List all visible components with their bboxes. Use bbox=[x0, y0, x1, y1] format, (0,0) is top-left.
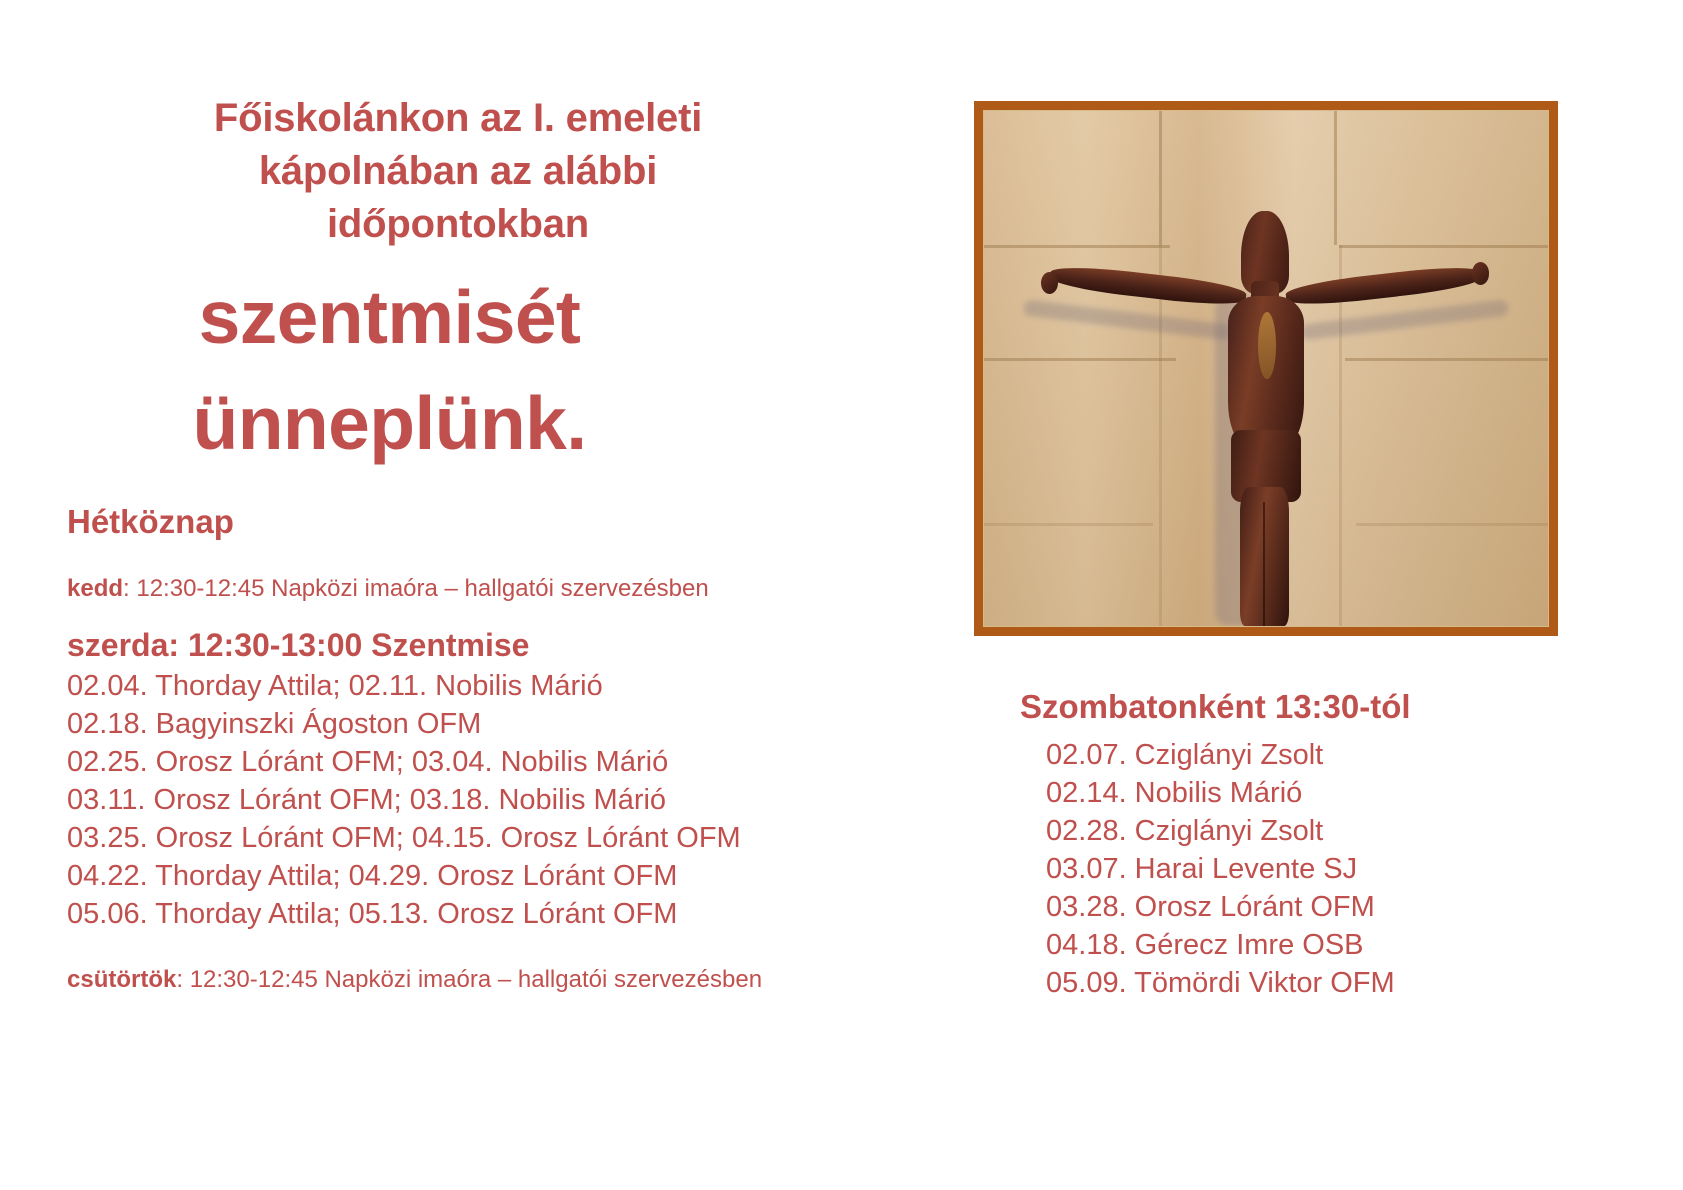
headline-line-1: szentmisét bbox=[62, 266, 872, 370]
thursday-row: csütörtök: 12:30-12:45 Napközi imaóra – … bbox=[67, 966, 872, 994]
list-item: 03.28. Orosz Lóránt OFM bbox=[1046, 889, 1640, 927]
list-item: 02.25. Orosz Lóránt OFM; 03.04. Nobilis … bbox=[67, 744, 872, 782]
tuesday-row: kedd: 12:30-12:45 Napközi imaóra – hallg… bbox=[67, 575, 872, 603]
left-column: Főiskolánkon az I. emeleti kápolnában az… bbox=[62, 92, 872, 994]
thursday-detail: : 12:30-12:45 Napközi imaóra – hallgatói… bbox=[176, 966, 762, 993]
list-item: 02.18. Bagyinszki Ágoston OFM bbox=[67, 706, 872, 744]
headline-line-2: ünneplünk. bbox=[62, 372, 872, 476]
saturday-schedule-list: 02.07. Cziglányi Zsolt 02.14. Nobilis Má… bbox=[1046, 737, 1640, 1003]
crucifix-photo bbox=[983, 110, 1549, 627]
saturday-section: Szombatonként 13:30-tól 02.07. Cziglányi… bbox=[1020, 688, 1640, 1003]
wednesday-schedule-list: 02.04. Thorday Attila; 02.11. Nobilis Má… bbox=[67, 668, 872, 934]
corpus-left-arm bbox=[1049, 263, 1248, 309]
tuesday-detail: : 12:30-12:45 Napközi imaóra – hallgatói… bbox=[123, 575, 709, 602]
corpus-chest-highlight bbox=[1258, 312, 1276, 379]
poster-canvas: Főiskolánkon az I. emeleti kápolnában az… bbox=[0, 0, 1683, 1190]
list-item: 04.22. Thorday Attila; 04.29. Orosz Lórá… bbox=[67, 858, 872, 896]
corpus-right-hand bbox=[1472, 262, 1489, 285]
intro-paragraph: Főiskolánkon az I. emeleti kápolnában az… bbox=[62, 92, 872, 250]
crucifix-photo-frame bbox=[974, 101, 1558, 636]
intro-line-2: kápolnában az alábbi bbox=[72, 145, 844, 198]
list-item: 04.18. Gérecz Imre OSB bbox=[1046, 927, 1640, 965]
intro-line-3: időpontokban bbox=[72, 198, 844, 251]
corpus-right-arm bbox=[1284, 263, 1483, 309]
thursday-day-label: csütörtök bbox=[67, 966, 176, 993]
intro-line-1: Főiskolánkon az I. emeleti bbox=[72, 92, 844, 145]
list-item: 03.07. Harai Levente SJ bbox=[1046, 851, 1640, 889]
list-item: 03.25. Orosz Lóránt OFM; 04.15. Orosz Ló… bbox=[67, 820, 872, 858]
weekday-section-title: Hétköznap bbox=[67, 503, 872, 541]
tuesday-day-label: kedd bbox=[67, 575, 123, 602]
list-item: 05.09. Tömördi Viktor OFM bbox=[1046, 965, 1640, 1003]
list-item: 02.14. Nobilis Márió bbox=[1046, 775, 1640, 813]
list-item: 05.06. Thorday Attila; 05.13. Orosz Lórá… bbox=[67, 896, 872, 934]
list-item: 03.11. Orosz Lóránt OFM; 03.18. Nobilis … bbox=[67, 782, 872, 820]
corpus-leg-split bbox=[1263, 502, 1265, 626]
wednesday-heading: szerda: 12:30-13:00 Szentmise bbox=[67, 627, 872, 664]
saturday-heading: Szombatonként 13:30-tól bbox=[1020, 688, 1640, 726]
corpus-left-hand bbox=[1041, 272, 1058, 295]
wooden-corpus-figure bbox=[984, 111, 1548, 626]
list-item: 02.07. Cziglányi Zsolt bbox=[1046, 737, 1640, 775]
list-item: 02.04. Thorday Attila; 02.11. Nobilis Má… bbox=[67, 668, 872, 706]
list-item: 02.28. Cziglányi Zsolt bbox=[1046, 813, 1640, 851]
